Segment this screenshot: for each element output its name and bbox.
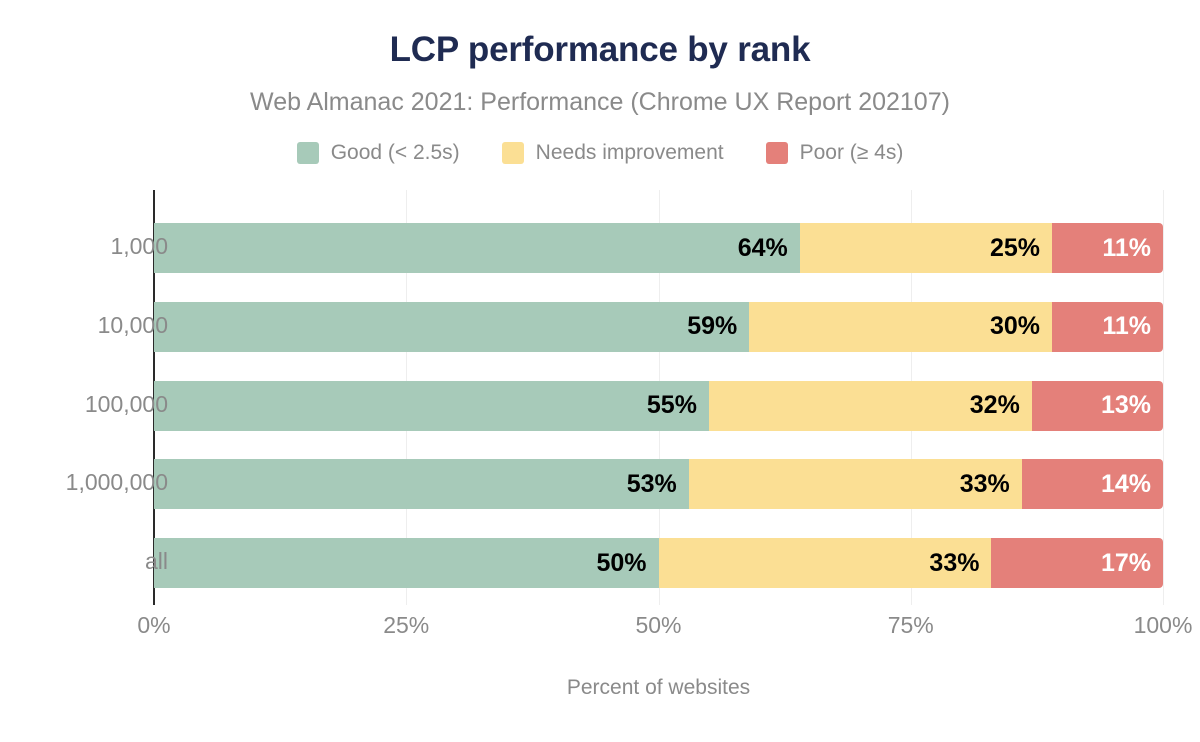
bar-segment[interactable]: 33% (689, 459, 1022, 509)
bar-segment-label: 11% (1102, 234, 1151, 263)
y-tick-label: 100,000 (0, 391, 168, 418)
legend-swatch-icon (502, 142, 524, 164)
bar-segment[interactable]: 11% (1052, 223, 1163, 273)
bar-segment[interactable]: 59% (154, 302, 749, 352)
legend-item[interactable]: Poor (≥ 4s) (766, 141, 904, 165)
bar-segment-label: 53% (627, 470, 677, 499)
bar-segment-label: 17% (1101, 549, 1151, 578)
bar-segment-label: 33% (929, 549, 979, 578)
bar-segment[interactable]: 33% (659, 538, 992, 588)
bar-segment-label: 25% (990, 234, 1040, 263)
bar-row[interactable]: 50%33%17% (154, 538, 1163, 588)
legend-item-label: Good (< 2.5s) (331, 141, 460, 165)
bar-segment-label: 30% (990, 312, 1040, 341)
legend-item-label: Needs improvement (536, 141, 724, 165)
bar-segment[interactable]: 13% (1032, 381, 1163, 431)
bar-segment[interactable]: 64% (154, 223, 800, 273)
bar-segment[interactable]: 17% (991, 538, 1163, 588)
bar-row[interactable]: 55%32%13% (154, 381, 1163, 431)
bar-segment-label: 55% (647, 391, 697, 420)
legend-item-label: Poor (≥ 4s) (800, 141, 904, 165)
bar-segment[interactable]: 50% (154, 538, 659, 588)
bar-segment-label: 13% (1101, 391, 1151, 420)
bar-segment[interactable]: 53% (154, 459, 689, 509)
legend-item[interactable]: Good (< 2.5s) (297, 141, 460, 165)
chart-figure: LCP performance by rank Web Almanac 2021… (0, 0, 1200, 742)
y-tick-label: 10,000 (0, 312, 168, 339)
y-tick-label: all (0, 548, 168, 575)
plot-area: 64%25%11%59%30%11%55%32%13%53%33%14%50%3… (154, 190, 1163, 605)
legend-item[interactable]: Needs improvement (502, 141, 724, 165)
x-tick-label: 25% (336, 612, 476, 639)
y-tick-label: 1,000 (0, 233, 168, 260)
bar-segment[interactable]: 32% (709, 381, 1032, 431)
legend-swatch-icon (766, 142, 788, 164)
legend-swatch-icon (297, 142, 319, 164)
chart-legend: Good (< 2.5s)Needs improvementPoor (≥ 4s… (0, 141, 1200, 165)
gridline (1163, 190, 1164, 605)
bar-segment[interactable]: 25% (800, 223, 1052, 273)
bar-segment-label: 32% (970, 391, 1020, 420)
x-tick-label: 0% (84, 612, 224, 639)
x-tick-label: 50% (589, 612, 729, 639)
bar-segment-label: 14% (1101, 470, 1151, 499)
bar-row[interactable]: 59%30%11% (154, 302, 1163, 352)
bar-row[interactable]: 53%33%14% (154, 459, 1163, 509)
chart-title: LCP performance by rank (0, 30, 1200, 70)
x-tick-label: 100% (1093, 612, 1200, 639)
bar-segment-label: 33% (960, 470, 1010, 499)
bar-series-container: 64%25%11%59%30%11%55%32%13%53%33%14%50%3… (154, 190, 1163, 605)
bar-segment[interactable]: 30% (749, 302, 1052, 352)
y-tick-label: 1,000,000 (0, 469, 168, 496)
bar-segment-label: 59% (687, 312, 737, 341)
chart-subtitle: Web Almanac 2021: Performance (Chrome UX… (0, 88, 1200, 117)
bar-segment[interactable]: 55% (154, 381, 709, 431)
bar-segment-label: 11% (1102, 312, 1151, 341)
bar-segment[interactable]: 11% (1052, 302, 1163, 352)
bar-segment[interactable]: 14% (1022, 459, 1163, 509)
bar-segment-label: 64% (738, 234, 788, 263)
x-tick-label: 75% (841, 612, 981, 639)
bar-row[interactable]: 64%25%11% (154, 223, 1163, 273)
x-axis-title: Percent of websites (154, 676, 1163, 700)
bar-segment-label: 50% (596, 549, 646, 578)
